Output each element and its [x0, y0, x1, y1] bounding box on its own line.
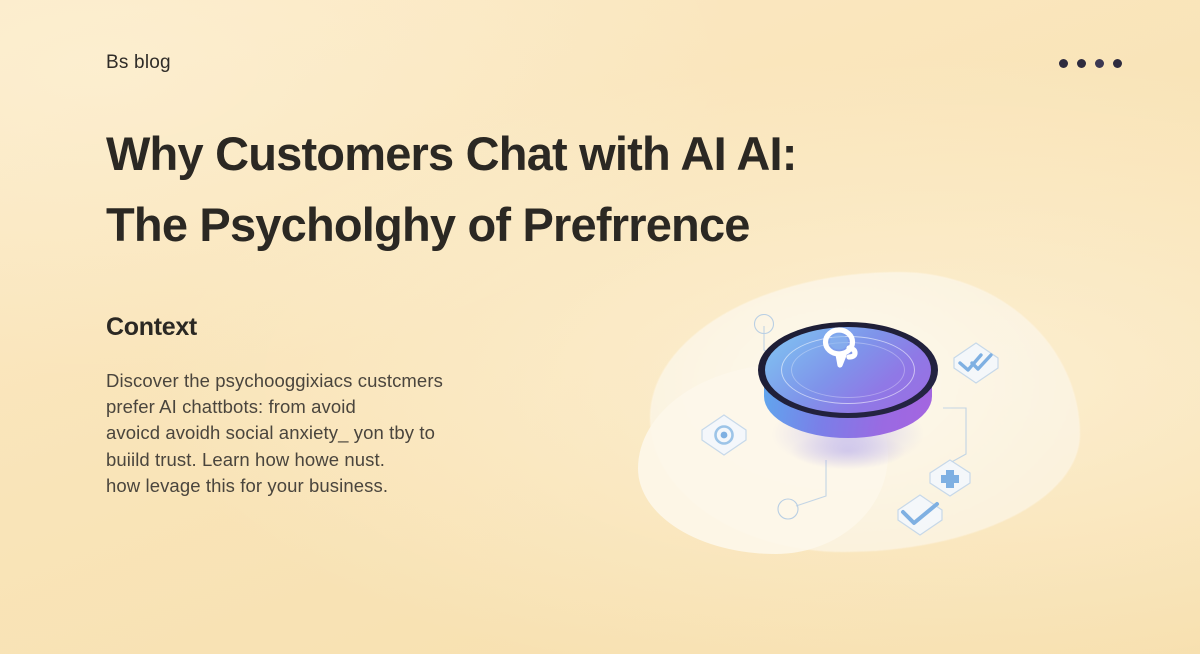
body-line: how levage this for your business. [106, 473, 576, 499]
page-title-line-1: Why Customers Chat with AI AI: [106, 127, 797, 180]
hero-content: Why Customers Chat with AI AI: The Psych… [106, 118, 666, 499]
brand-logo[interactable]: Bs blog [106, 52, 171, 74]
body-line: buiild trust. Learn how howe nust. [106, 447, 576, 473]
node-dot [778, 499, 798, 519]
page-title-line-2: The Psycholghy of Prefrrence [106, 189, 666, 260]
chat-puck [758, 306, 938, 466]
page-title: Why Customers Chat with AI AI: The Psych… [106, 118, 666, 261]
chat-bubble-icon [816, 324, 868, 370]
section-heading: Context [106, 313, 666, 342]
menu-dot [1095, 59, 1104, 68]
badge-double-check[interactable] [948, 338, 1004, 388]
badge-check-arrow[interactable] [892, 490, 948, 540]
menu-dot [1059, 59, 1068, 68]
body-paragraph: Discover the psychooggixiacs custcmers p… [106, 368, 576, 499]
body-line: avoicd avoidh social anxiety_ yon tby to [106, 420, 576, 446]
body-line: prefer AI chattbots: from avoid [106, 394, 576, 420]
topbar: Bs blog [106, 46, 1128, 80]
double-check-icon [948, 338, 1004, 388]
body-line: Discover the psychooggixiacs custcmers [106, 368, 576, 394]
menu-dot [1077, 59, 1086, 68]
menu-dot [1113, 59, 1122, 68]
check-arrow-icon [892, 490, 948, 540]
badge-eye[interactable] [696, 410, 752, 460]
eye-icon [696, 410, 752, 460]
menu-dots-icon[interactable] [1059, 59, 1128, 68]
hero-illustration [630, 268, 1100, 588]
